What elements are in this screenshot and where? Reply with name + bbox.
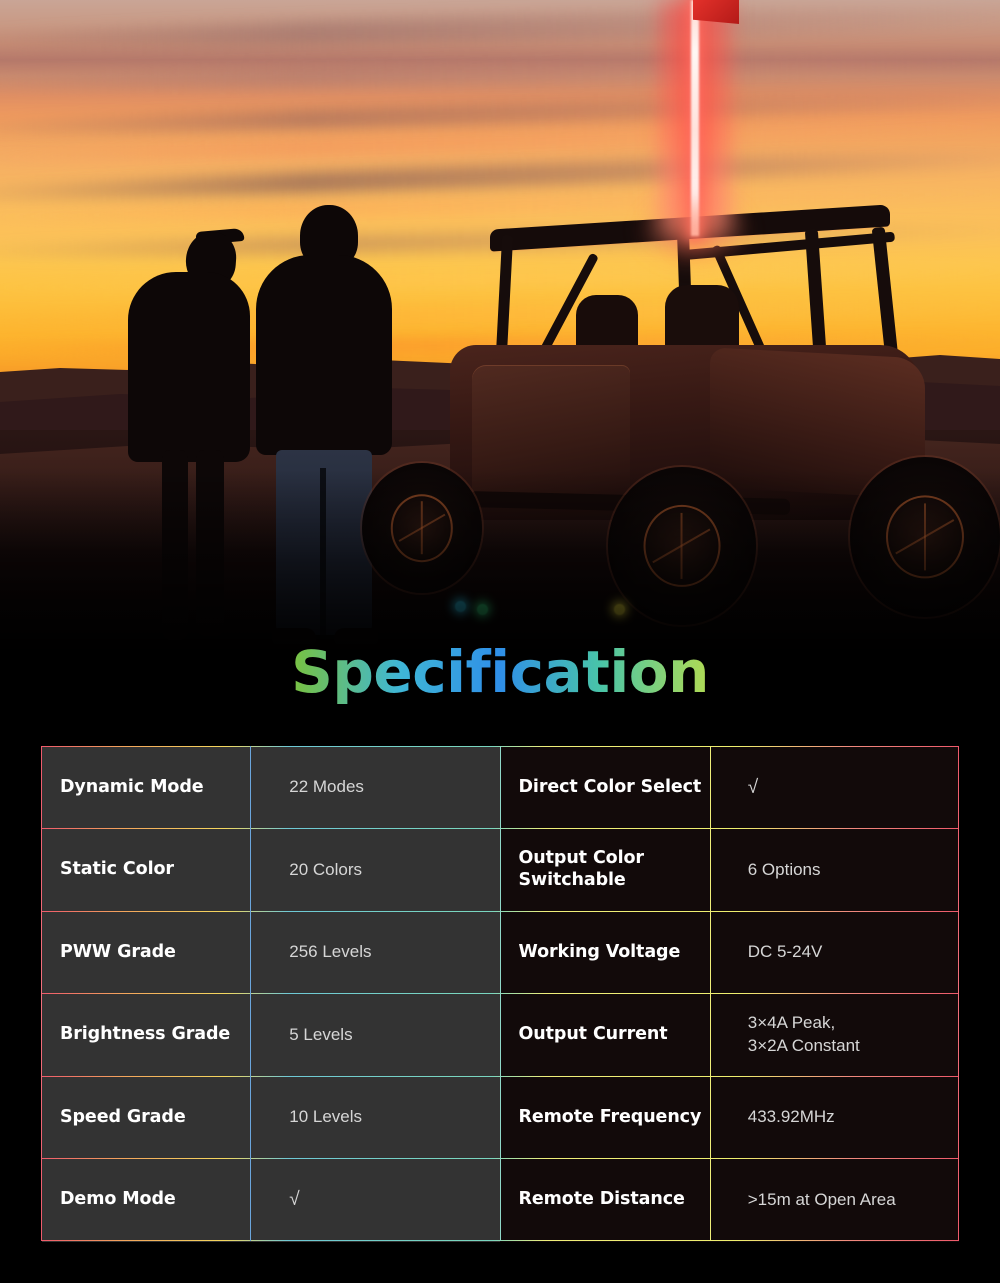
- whip-base-glow: [634, 190, 754, 270]
- spec-key-left: PWW Grade: [42, 912, 271, 995]
- spec-value-left: 256 Levels: [271, 912, 500, 995]
- spec-key-right: Direct Color Select: [500, 747, 729, 830]
- spec-key-right: Output Current: [500, 994, 729, 1077]
- spec-key-left: Demo Mode: [42, 1159, 271, 1242]
- spec-key-right: Remote Frequency: [500, 1077, 729, 1160]
- spec-key-right: Remote Distance: [500, 1159, 729, 1242]
- led-whip-light: [682, 0, 708, 236]
- spec-value-right: 433.92MHz: [729, 1077, 958, 1160]
- page-title: Specification: [0, 638, 1000, 706]
- spec-value-left: 10 Levels: [271, 1077, 500, 1160]
- table-row: PWW Grade256 LevelsWorking VoltageDC 5-2…: [42, 912, 959, 995]
- table-row: Speed Grade10 LevelsRemote Frequency433.…: [42, 1077, 959, 1160]
- spec-key-right: Output Color Switchable: [500, 829, 729, 912]
- spec-key-left: Speed Grade: [42, 1077, 271, 1160]
- spec-key-left: Static Color: [42, 829, 271, 912]
- spec-value-right: DC 5-24V: [729, 912, 958, 995]
- red-flag-icon: [693, 0, 739, 24]
- product-spec-page: Specification Dynamic Mode22 ModesDirect…: [0, 0, 1000, 1283]
- spec-key-right: Working Voltage: [500, 912, 729, 995]
- table-row: Demo Mode√Remote Distance>15m at Open Ar…: [42, 1159, 959, 1242]
- spec-value-left: 5 Levels: [271, 994, 500, 1077]
- spec-key-left: Brightness Grade: [42, 994, 271, 1077]
- hero-photo: [0, 0, 1000, 700]
- spec-value-left: √: [271, 1159, 500, 1242]
- table-row: Dynamic Mode22 ModesDirect Color Select√: [42, 747, 959, 830]
- specification-table: Dynamic Mode22 ModesDirect Color Select√…: [41, 746, 959, 1242]
- spec-value-left: 20 Colors: [271, 829, 500, 912]
- spec-key-left: Dynamic Mode: [42, 747, 271, 830]
- person-right-torso: [256, 255, 392, 455]
- table-row: Static Color20 ColorsOutput Color Switch…: [42, 829, 959, 912]
- spec-value-left: 22 Modes: [271, 747, 500, 830]
- spec-value-right: >15m at Open Area: [729, 1159, 958, 1242]
- spec-value-right: 6 Options: [729, 829, 958, 912]
- spec-value-right: √: [729, 747, 958, 830]
- table-row: Brightness Grade5 LevelsOutput Current3×…: [42, 994, 959, 1077]
- person-left-torso: [128, 272, 250, 462]
- spec-value-right: 3×4A Peak,3×2A Constant: [729, 994, 958, 1077]
